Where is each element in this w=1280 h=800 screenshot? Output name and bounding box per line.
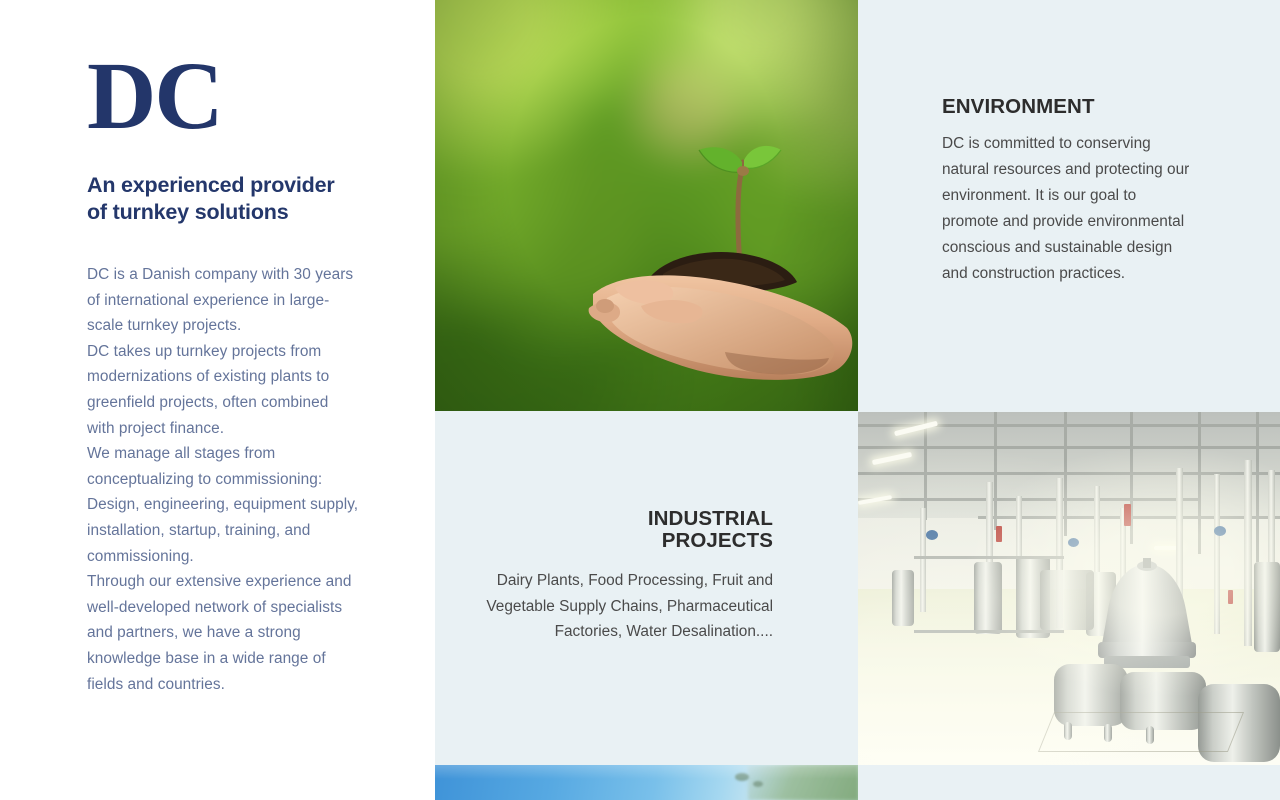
- industrial-processing-plant-photo: [858, 412, 1280, 765]
- intro-paragraph: DC takes up turnkey projects from modern…: [87, 339, 359, 441]
- left-content-column: DC An experienced provider of turnkey so…: [0, 0, 435, 800]
- dc-logo[interactable]: DC: [87, 48, 222, 144]
- industrial-projects-section: INDUSTRIAL PROJECTS Dairy Plants, Food P…: [473, 508, 773, 645]
- company-intro-text: DC is a Danish company with 30 years of …: [87, 262, 359, 697]
- environment-section: ENVIRONMENT DC is committed to conservin…: [942, 95, 1194, 287]
- page-root: DC An experienced provider of turnkey so…: [0, 0, 1280, 800]
- intro-paragraph: We manage all stages from conceptualizin…: [87, 441, 359, 569]
- hands-holding-seedling-photo: [435, 0, 858, 411]
- page-title: An experienced provider of turnkey solut…: [87, 172, 357, 225]
- industrial-heading-line2: PROJECTS: [473, 530, 773, 552]
- aerial-coastline-ocean-photo: [435, 765, 858, 800]
- photo-light-haze: [858, 412, 1280, 765]
- photo-light-haze: [435, 765, 858, 800]
- intro-paragraph: DC is a Danish company with 30 years of …: [87, 262, 359, 339]
- environment-heading: ENVIRONMENT: [942, 95, 1194, 119]
- industrial-projects-body-text: Dairy Plants, Food Processing, Fruit and…: [473, 568, 773, 645]
- industrial-projects-heading: INDUSTRIAL PROJECTS: [473, 508, 773, 552]
- industrial-heading-line1: INDUSTRIAL: [473, 508, 773, 530]
- cupped-hands-icon: [585, 232, 858, 382]
- environment-body-text: DC is committed to conserving natural re…: [942, 131, 1194, 287]
- intro-paragraph: Through our extensive experience and wel…: [87, 569, 359, 697]
